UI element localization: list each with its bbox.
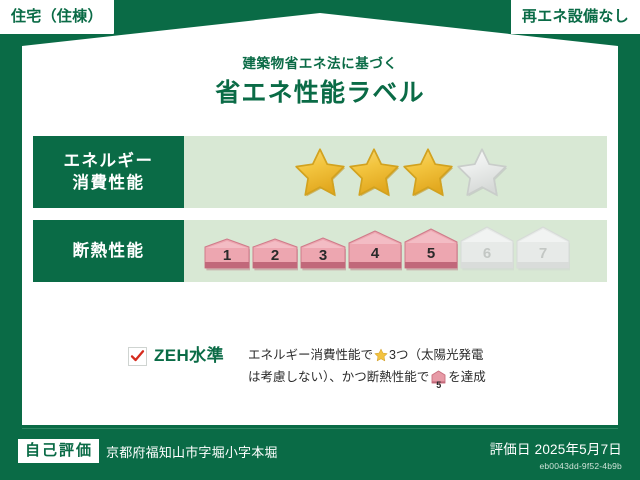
renewable-energy-tag: 再エネ設備なし	[511, 0, 640, 34]
insulation-performance-label: 断熱性能	[33, 220, 184, 282]
page-title: 省エネ性能ラベル	[0, 78, 640, 109]
insulation-performance-body: 1234567	[184, 220, 607, 282]
insulation-level-scale: 1234567	[204, 226, 570, 282]
insulation-level-number: 2	[252, 248, 298, 263]
property-address: 京都府福知山市字堀小字本堀	[106, 442, 278, 461]
zeh-checkbox-group[interactable]: ZEH水準	[128, 346, 224, 366]
insulation-level-badge: 5	[404, 228, 458, 273]
star-filled-icon	[402, 146, 454, 198]
inline-star-icon	[374, 348, 388, 368]
energy-performance-label: エネルギー 消費性能	[33, 136, 184, 208]
footer-divider	[22, 428, 618, 429]
zeh-desc-part-2: 3つ（太陽光発電	[389, 348, 483, 362]
star-filled-icon	[294, 146, 346, 198]
insulation-level-number: 6	[460, 246, 514, 261]
insulation-performance-row: 断熱性能 1234567	[33, 220, 607, 282]
evaluation-type-badge: 自己評価	[18, 439, 99, 463]
evaluation-date-label: 評価日	[490, 442, 531, 457]
check-icon	[130, 349, 145, 364]
energy-performance-body	[184, 136, 607, 208]
energy-performance-row: エネルギー 消費性能	[33, 136, 607, 208]
star-filled-icon	[348, 146, 400, 198]
evaluation-date-value: 2025年5月7日	[535, 442, 622, 457]
heading-subtitle: 建築物省エネ法に基づく	[0, 56, 640, 72]
zeh-desc-part-3: は考慮しない）、かつ断熱性能で	[248, 370, 429, 384]
insulation-level-badge: 3	[300, 237, 346, 273]
energy-label-line-1: エネルギー	[64, 150, 154, 172]
insulation-level-number: 1	[204, 248, 250, 263]
record-id: eb0043dd-9f52-4b9b	[490, 461, 622, 471]
zeh-checkbox[interactable]	[128, 347, 147, 366]
label-footer: 自己評価 京都府福知山市字堀小字本堀 評価日 2025年5月7日 eb0043d…	[0, 430, 640, 480]
inline-insulation-badge: 5	[431, 370, 446, 390]
insulation-level-number: 7	[516, 246, 570, 261]
insulation-level-badge: 2	[252, 238, 298, 273]
zeh-desc-part-1: エネルギー消費性能で	[248, 348, 373, 362]
insulation-level-badge: 4	[348, 230, 402, 273]
zeh-description: エネルギー消費性能で 3つ（太陽光発電は考慮しない）、かつ断熱性能で 5 を達成	[248, 346, 486, 391]
insulation-level-badge: 1	[204, 238, 250, 273]
insulation-level-number: 4	[348, 246, 402, 261]
insulation-level-number: 5	[404, 246, 458, 261]
insulation-level-badge: 6	[460, 226, 514, 273]
energy-performance-label-card: 住宅（住棟） 再エネ設備なし 建築物省エネ法に基づく 省エネ性能ラベル エネルギ…	[0, 0, 640, 480]
footer-left-group: 自己評価 京都府福知山市字堀小字本堀	[18, 439, 278, 463]
performance-rows: エネルギー 消費性能 断熱性能 1234567	[33, 136, 607, 282]
label-heading: 建築物省エネ法に基づく 省エネ性能ラベル	[0, 56, 640, 109]
insulation-level-badge: 7	[516, 226, 570, 273]
star-empty-icon	[456, 146, 508, 198]
zeh-standard-block: ZEH水準 エネルギー消費性能で 3つ（太陽光発電は考慮しない）、かつ断熱性能で…	[128, 346, 486, 391]
insulation-level-number: 3	[300, 248, 346, 263]
footer-right-group: 評価日 2025年5月7日 eb0043dd-9f52-4b9b	[490, 438, 622, 471]
inline-badge-number: 5	[431, 381, 446, 390]
zeh-desc-part-4: を達成	[448, 370, 486, 384]
insulation-label-text: 断熱性能	[73, 240, 145, 262]
building-type-tag: 住宅（住棟）	[0, 0, 114, 34]
zeh-title: ZEH水準	[154, 347, 224, 366]
star-rating	[294, 146, 508, 198]
energy-label-line-2: 消費性能	[64, 172, 154, 194]
evaluation-date: 評価日 2025年5月7日	[490, 438, 622, 458]
